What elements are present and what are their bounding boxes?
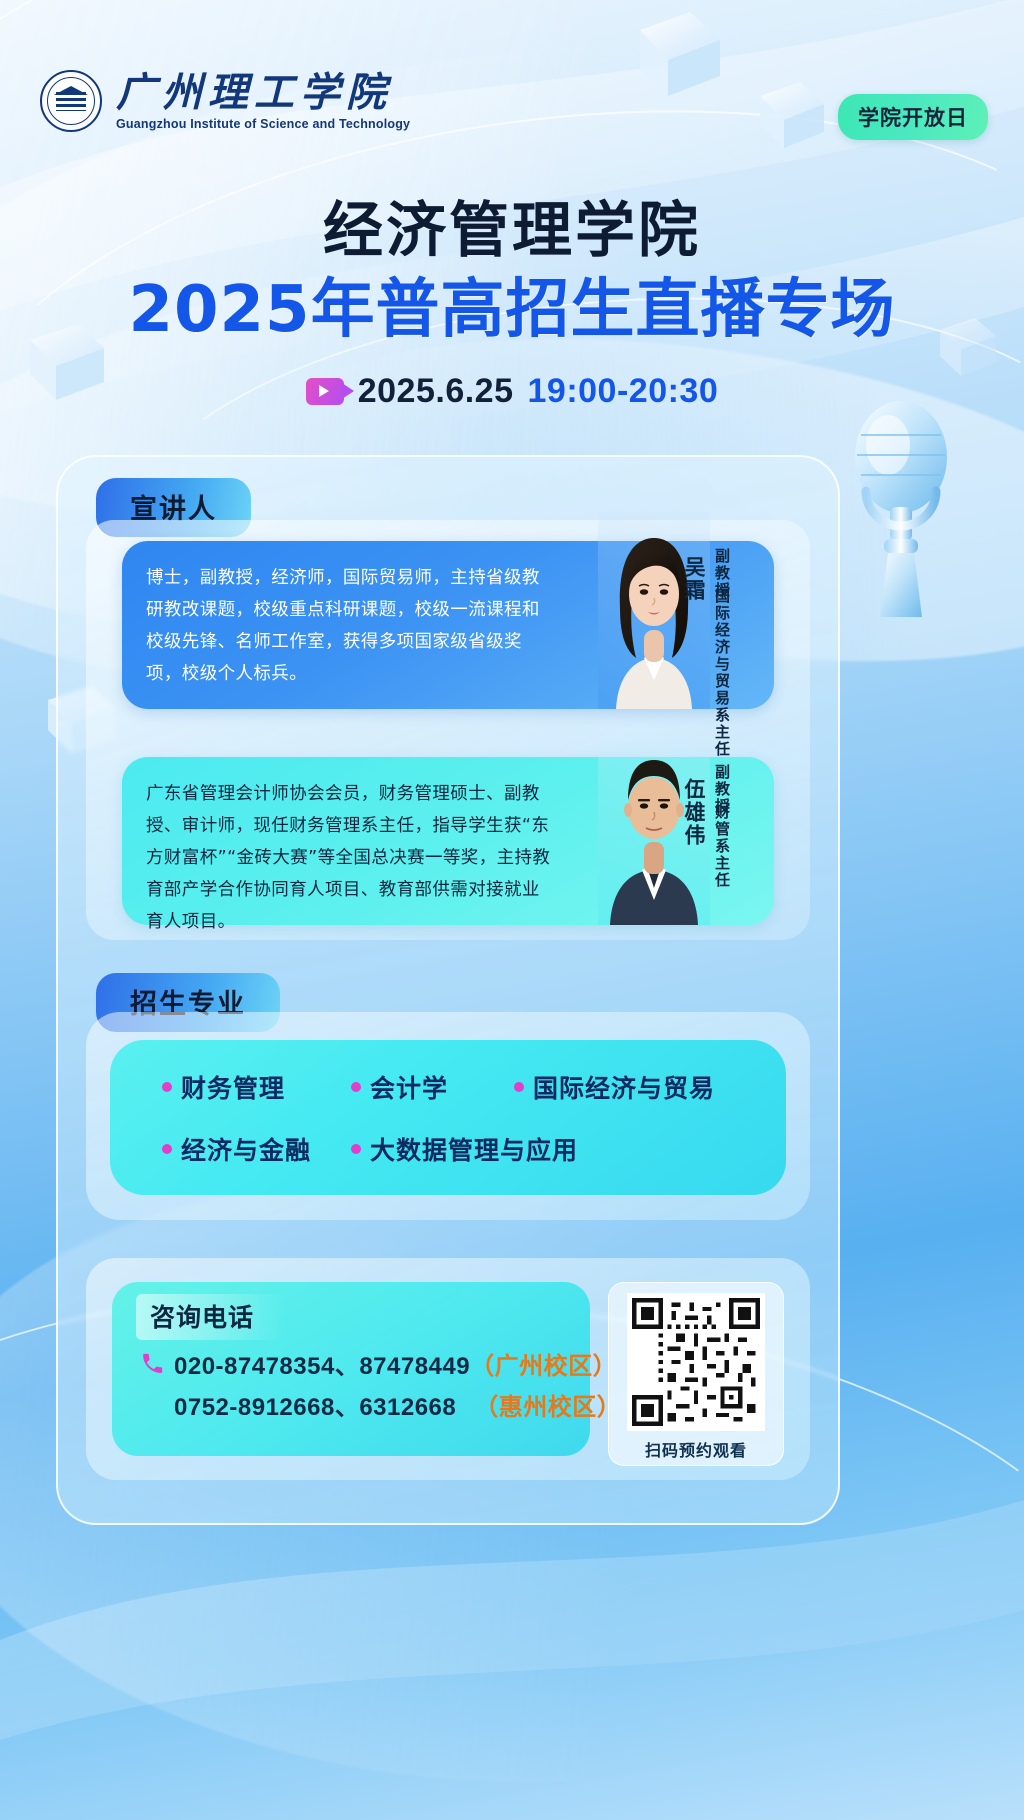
qr-code-image xyxy=(627,1293,765,1431)
school-crest-icon xyxy=(40,70,102,132)
video-camera-icon xyxy=(306,378,344,405)
speaker-2-position: 财管系主任 xyxy=(712,804,730,889)
qr-caption: 扫码预约观看 xyxy=(645,1437,747,1461)
telephone-icon xyxy=(140,1351,165,1376)
majors-list: 财务管理 会计学 国际经济与贸易 经济与金融 大数据管理与应用 xyxy=(110,1040,786,1195)
phone-line: 0752-8912668、6312668 （惠州校区） xyxy=(140,1387,621,1422)
major-item: 会计学 xyxy=(351,1069,448,1105)
schedule-date: 2025.6.25 xyxy=(358,372,514,411)
contact-phone-list: 020-87478354、87478449 （广州校区） 0752-891266… xyxy=(140,1346,621,1422)
speaker-2-bio: 广东省管理会计师协会会员，财务管理硕士、副教授、审计师，现任财务管理系主任，指导… xyxy=(146,778,554,938)
major-item: 国际经济与贸易 xyxy=(514,1069,715,1105)
phone-numbers: 020-87478354、87478449 xyxy=(174,1346,470,1381)
phone-numbers: 0752-8912668、6312668 xyxy=(174,1387,456,1422)
school-name-cn: 广州理工学院 xyxy=(116,72,410,114)
bullet-dot-icon xyxy=(162,1144,172,1154)
bullet-dot-icon xyxy=(351,1144,361,1154)
majors-row-2: 经济与金融 大数据管理与应用 xyxy=(162,1131,734,1167)
major-item: 大数据管理与应用 xyxy=(351,1131,578,1167)
poster-title-line1: 经济管理学院 xyxy=(0,182,1024,269)
speaker-1-position: 国际经济与贸易系主任 xyxy=(712,588,730,758)
bullet-dot-icon xyxy=(351,1082,361,1092)
major-label: 会计学 xyxy=(370,1069,448,1105)
campus-label: （惠州校区） xyxy=(474,1387,621,1422)
speaker-1-bio: 博士，副教授，经济师，国际贸易师，主持省级教研教改课题，校级重点科研课题，校级一… xyxy=(146,562,548,690)
speaker-1-portrait xyxy=(598,512,710,709)
major-item: 财务管理 xyxy=(162,1069,285,1105)
major-label: 大数据管理与应用 xyxy=(370,1131,578,1167)
campus-label: （广州校区） xyxy=(470,1346,617,1381)
major-label: 经济与金融 xyxy=(181,1131,311,1167)
contact-section-heading: 咨询电话 xyxy=(136,1294,284,1340)
major-label: 国际经济与贸易 xyxy=(533,1069,715,1105)
major-label: 财务管理 xyxy=(181,1069,285,1105)
school-logo: 广州理工学院 Guangzhou Institute of Science an… xyxy=(40,70,410,132)
poster-title-line2: 2025年普高招生直播专场 xyxy=(0,258,1024,350)
majors-row-1: 财务管理 会计学 国际经济与贸易 xyxy=(162,1069,734,1105)
schedule-time: 19:00-20:30 xyxy=(528,372,719,411)
school-name-en: Guangzhou Institute of Science and Techn… xyxy=(116,117,410,131)
major-item: 经济与金融 xyxy=(162,1131,311,1167)
bullet-dot-icon xyxy=(162,1082,172,1092)
microphone-illustration xyxy=(826,395,976,625)
speaker-1-name: 吴霜 xyxy=(678,556,708,602)
qr-code-block[interactable]: 扫码预约观看 xyxy=(608,1282,784,1466)
speaker-2-name: 伍雄伟 xyxy=(678,778,708,847)
bullet-dot-icon xyxy=(514,1082,524,1092)
phone-line: 020-87478354、87478449 （广州校区） xyxy=(140,1346,621,1381)
open-day-badge: 学院开放日 xyxy=(838,94,988,140)
